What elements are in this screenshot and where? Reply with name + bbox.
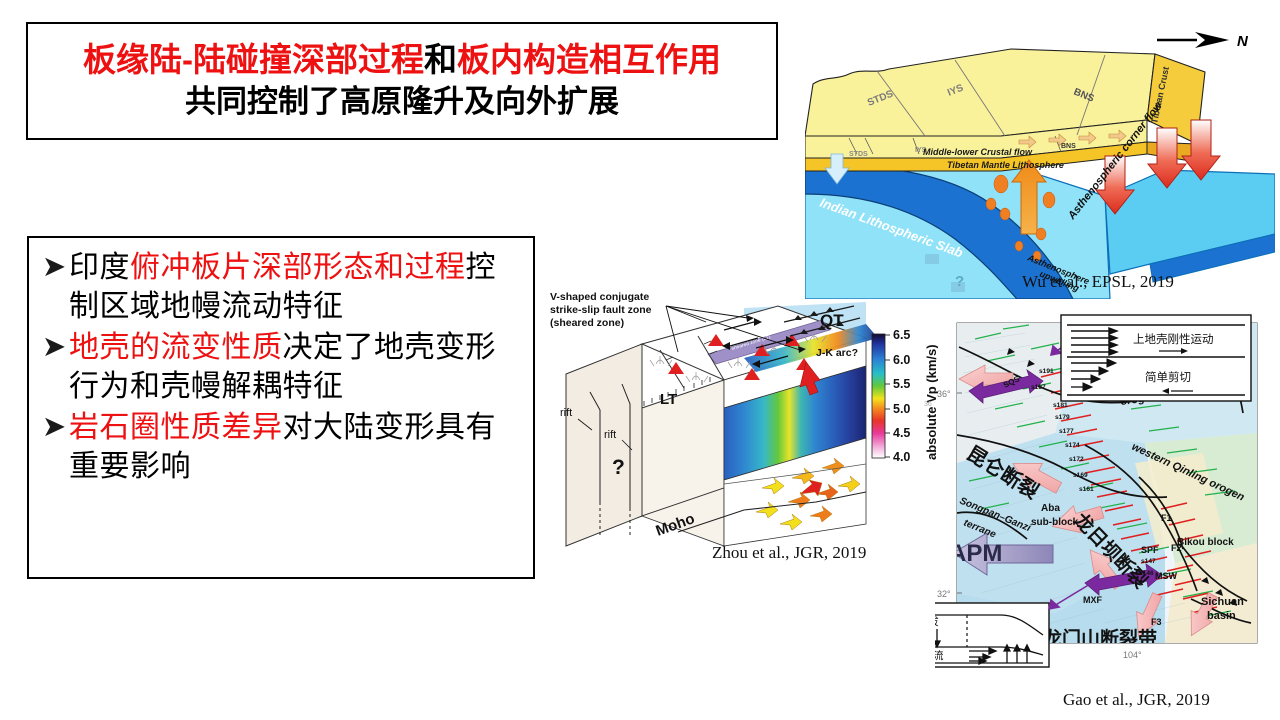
svg-text:s179: s179: [1055, 414, 1070, 421]
svg-text:F1: F1: [1161, 513, 1172, 523]
title-part-1: 板缘陆-陆碰撞深部过程: [83, 41, 424, 78]
svg-text:basin: basin: [1207, 610, 1236, 622]
svg-text:s181: s181: [1053, 402, 1068, 409]
title-line-2: 共同控制了高原隆升及向外扩展: [185, 84, 619, 121]
bullet-item-2: ➤ 地壳的流变性质决定了地壳变形行为和壳幔解耦特征: [39, 328, 525, 406]
title-line-1: 板缘陆-陆碰撞深部过程和板内构造相互作用: [83, 41, 721, 80]
gao-longmenshan-belt: 龙门山断裂带: [1043, 627, 1157, 650]
bullet-arrow-icon: ➤: [39, 408, 69, 446]
svg-text:SPF: SPF: [1141, 545, 1159, 555]
svg-text:s174: s174: [1065, 442, 1080, 449]
svg-text:F3: F3: [1151, 617, 1162, 627]
svg-text:(sheared zone): (sheared zone): [550, 317, 624, 329]
bullet-text-1: 印度俯冲板片深部形态和过程控制区域地幔流动特征: [69, 248, 525, 326]
slide-number: 36: [924, 401, 932, 408]
svg-text:s169: s169: [1073, 472, 1088, 479]
gao-legend-item-1: 上地壳刚性运动: [1133, 332, 1214, 346]
svg-text:Sichuan: Sichuan: [1201, 596, 1244, 608]
bullet-text-2: 地壳的流变性质决定了地壳变形行为和壳幔解耦特征: [69, 328, 525, 406]
zhou-label-qt: QT: [820, 311, 844, 330]
svg-text:6.5: 6.5: [893, 328, 910, 342]
svg-text:s187: s187: [1031, 384, 1046, 391]
bullet-text-3: 岩石圈性质差异对大陆变形具有重要影响: [69, 408, 525, 486]
bullet-1-part-2: 俯冲板片深部形态和过程: [130, 251, 466, 284]
gao-inset-item-3: 中下地壳流: [935, 649, 944, 662]
bullet-arrow-icon: ➤: [39, 248, 69, 286]
bullet-arrow-icon: ➤: [39, 328, 69, 366]
zhou-label-rift-left: rift: [560, 407, 572, 419]
gao-apm-label: APM: [949, 540, 1002, 567]
gao-lat-32: 32°: [937, 589, 951, 599]
svg-text:s177: s177: [1059, 428, 1074, 435]
caption-wu: Wu et al., EPSL, 2019: [1022, 272, 1174, 292]
gao-inset-item-1: 高海拔: [935, 615, 939, 628]
svg-text:?: ?: [955, 273, 964, 290]
svg-text:4.0: 4.0: [893, 450, 910, 464]
gao-legend-item-2: 简单剪切: [1145, 370, 1191, 384]
figure-wu-block-diagram: N STDS IYS BNS Tibetan Crust STDS IYS BN…: [805, 24, 1275, 299]
bullet-item-1: ➤ 印度俯冲板片深部形态和过程控制区域地幔流动特征: [39, 248, 525, 326]
figure-zhou-block-diagram: sheared zone (LT): [548, 288, 938, 558]
north-arrow-icon: [1157, 32, 1229, 48]
svg-text:STDS: STDS: [849, 151, 868, 158]
svg-text:sub-block: sub-block: [1031, 517, 1079, 528]
zhou-label-jk: J-K arc?: [816, 347, 858, 359]
svg-text:Middle-lower Crustal flow: Middle-lower Crustal flow: [923, 147, 1033, 157]
svg-text:5.0: 5.0: [893, 402, 910, 416]
zhou-label-question: ?: [612, 456, 625, 479]
svg-text:s191: s191: [1039, 368, 1054, 375]
svg-text:s161: s161: [1079, 486, 1094, 493]
figure-gao-map: s191 s187 s181 s179 s177 s174 s172 s169 …: [935, 313, 1271, 668]
title-part-2: 和: [424, 41, 457, 78]
slide-root: 板缘陆-陆碰撞深部过程和板内构造相互作用 共同控制了高原隆升及向外扩展 ➤ 印度…: [0, 0, 1280, 720]
gao-legend-box: 上地壳刚性运动 简单剪切: [1061, 315, 1251, 401]
svg-text:Tibetan Mantle Lithosphere: Tibetan Mantle Lithosphere: [947, 160, 1064, 170]
svg-text:6.0: 6.0: [893, 353, 910, 367]
bullet-item-3: ➤ 岩石圈性质差异对大陆变形具有重要影响: [39, 408, 525, 486]
svg-text:Aba: Aba: [1041, 503, 1060, 514]
wu-north-label: N: [1237, 33, 1249, 50]
svg-text:MSW: MSW: [1155, 571, 1178, 581]
svg-text:s172: s172: [1069, 456, 1084, 463]
svg-text:4.5: 4.5: [893, 426, 910, 440]
caption-gao: Gao et al., JGR, 2019: [1063, 690, 1210, 710]
svg-text:V-shaped conjugate: V-shaped conjugate: [550, 291, 649, 303]
bullet-1-part-1: 印度: [69, 251, 130, 284]
bullet-3-part-1: 岩石圈性质差异: [69, 411, 283, 444]
title-box: 板缘陆-陆碰撞深部过程和板内构造相互作用 共同控制了高原隆升及向外扩展: [26, 22, 778, 140]
caption-zhou: Zhou et al., JGR, 2019: [712, 543, 866, 563]
zhou-label-rift-right: rift: [604, 429, 616, 441]
svg-text:F2: F2: [1171, 543, 1182, 553]
zhou-colorbar: 6.5 6.0 5.5 5.0 4.5 4.0 absolute Vp (km/…: [872, 328, 938, 464]
bullet-2-part-1: 地壳的流变性质: [69, 331, 283, 364]
svg-text:BNS: BNS: [1061, 143, 1076, 150]
gao-lat-36: 36°: [937, 389, 951, 399]
svg-text:MXF: MXF: [1083, 595, 1103, 605]
svg-text:strike-slip fault zone: strike-slip fault zone: [550, 304, 652, 316]
svg-text:5.5: 5.5: [893, 377, 910, 391]
svg-text:Bikou block: Bikou block: [1177, 537, 1234, 548]
svg-text:s147: s147: [1141, 558, 1156, 565]
zhou-label-lt: LT: [660, 391, 677, 408]
bullet-box: ➤ 印度俯冲板片深部形态和过程控制区域地幔流动特征 ➤ 地壳的流变性质决定了地壳…: [27, 236, 535, 579]
gao-lon-104: 104°: [1123, 650, 1142, 660]
title-part-3: 板内构造相互作用: [457, 41, 721, 78]
